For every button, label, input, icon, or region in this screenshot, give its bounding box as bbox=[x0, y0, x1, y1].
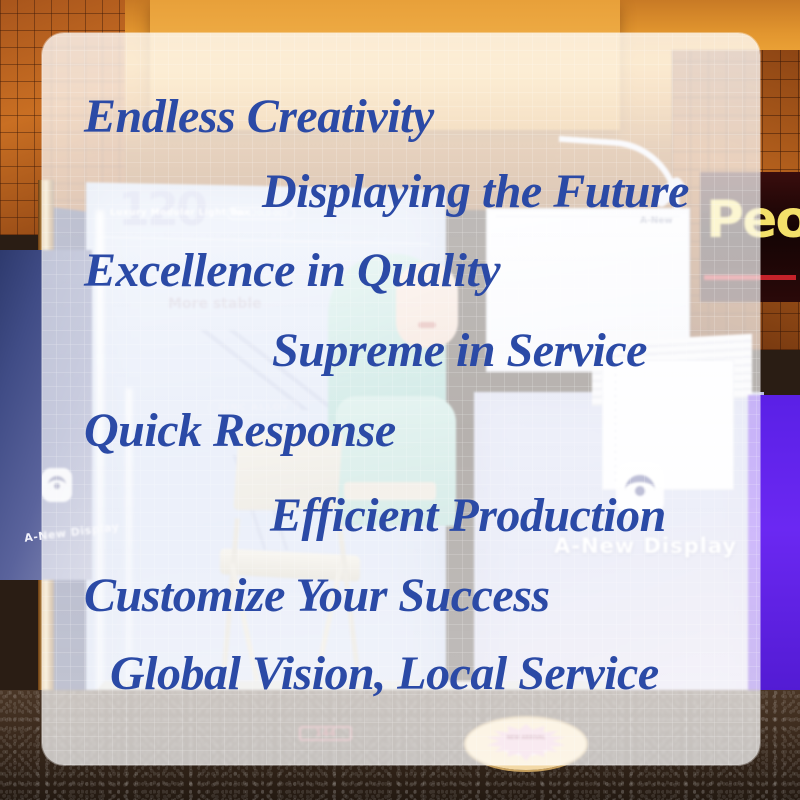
slogan-excellence-in-quality: Excellence in Quality bbox=[84, 247, 500, 295]
slogan-list: Endless Creativity Displaying the Future… bbox=[0, 0, 800, 800]
slogan-customize-your-success: Customize Your Success bbox=[84, 572, 550, 620]
slogan-endless-creativity: Endless Creativity bbox=[84, 93, 434, 141]
slogan-supreme-in-service: Supreme in Service bbox=[272, 327, 647, 375]
slogan-global-vision-local-service: Global Vision, Local Service bbox=[110, 650, 659, 698]
slogan-banner-canvas: Peo 120 Luxury Modular Light Box AN-120L… bbox=[0, 0, 800, 800]
slogan-efficient-production: Efficient Production bbox=[270, 492, 666, 540]
slogan-quick-response: Quick Response bbox=[84, 407, 396, 455]
slogan-displaying-the-future: Displaying the Future bbox=[262, 168, 689, 216]
